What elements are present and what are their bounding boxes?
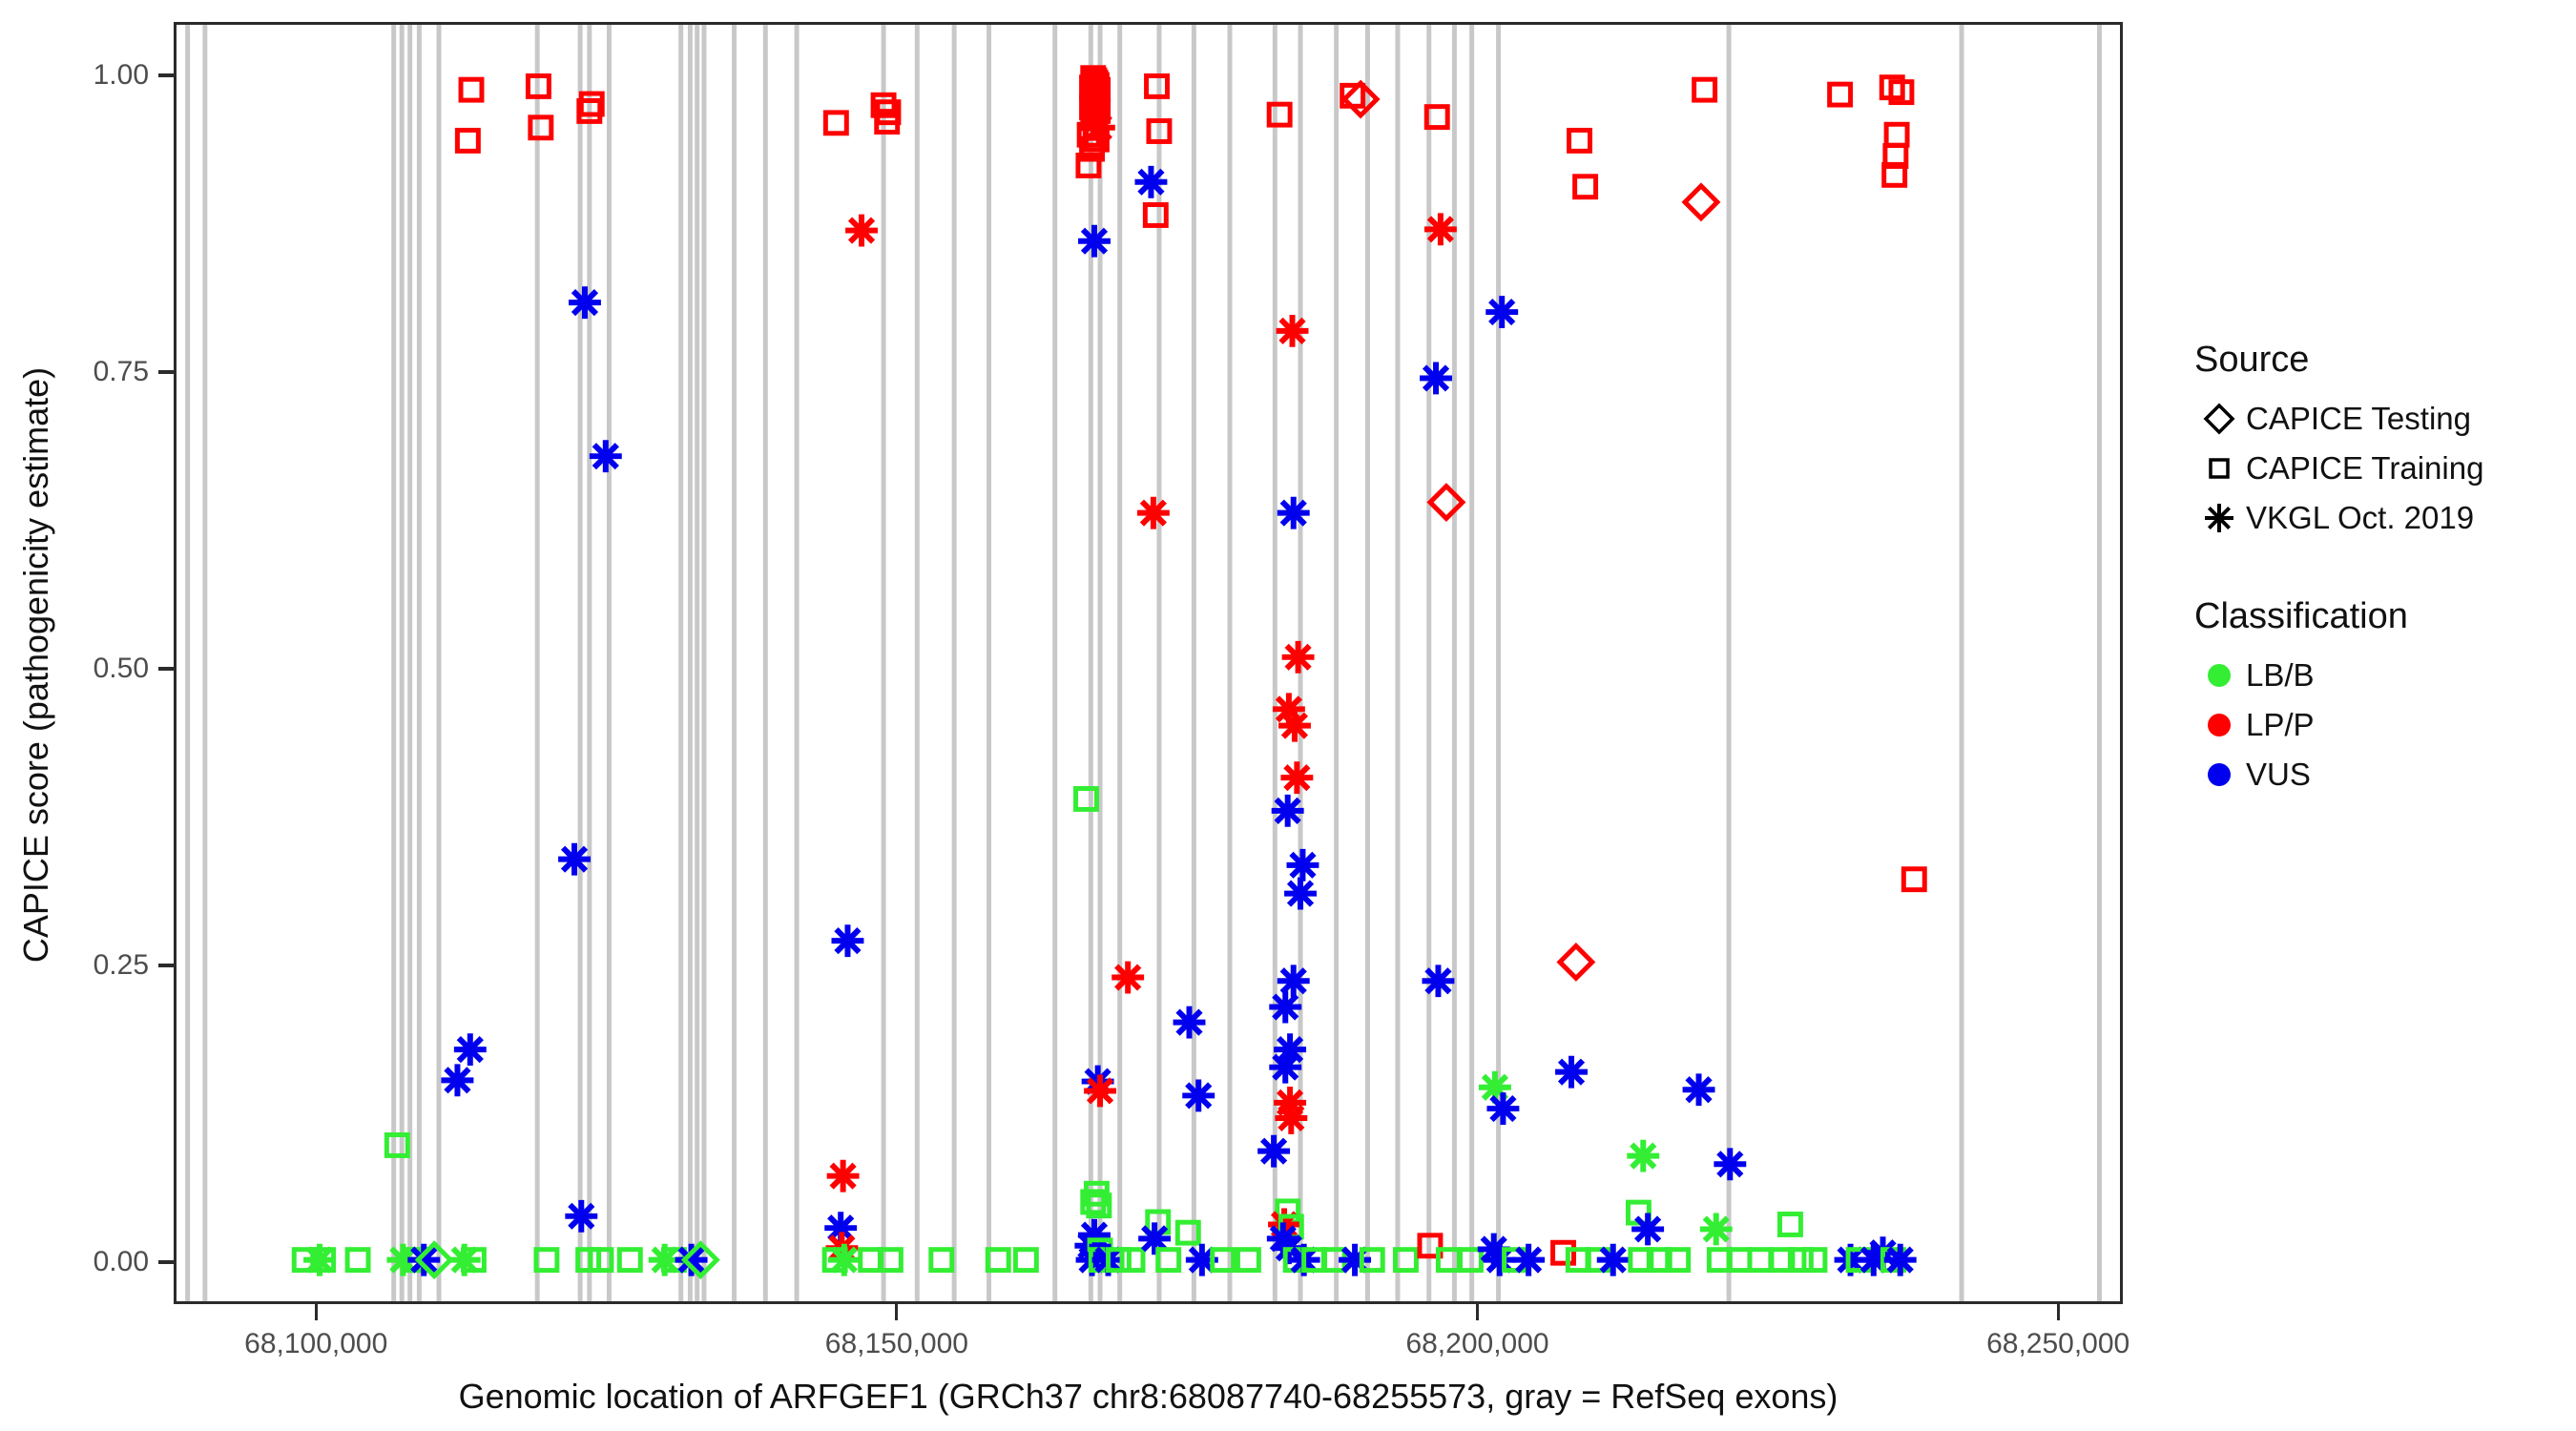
data-point xyxy=(1486,1092,1519,1125)
data-point xyxy=(1700,1213,1733,1246)
data-point xyxy=(1396,1250,1417,1271)
data-point xyxy=(1269,1051,1301,1084)
data-point xyxy=(1569,130,1590,151)
data-point xyxy=(1174,1006,1206,1039)
data-point xyxy=(832,924,864,957)
data-point xyxy=(827,1160,860,1192)
data-point xyxy=(461,79,482,100)
data-point xyxy=(1560,946,1592,979)
legend-group-classification: ClassificationLB/BLP/PVUS xyxy=(2192,596,2555,799)
data-point xyxy=(558,843,591,876)
data-point xyxy=(1145,205,1166,226)
data-point xyxy=(1269,104,1290,125)
data-points-layer xyxy=(177,25,2120,1301)
data-point xyxy=(1685,186,1717,218)
circle-marker-icon xyxy=(2192,703,2246,747)
data-point xyxy=(931,1250,952,1271)
legend-item[interactable]: CAPICE Testing xyxy=(2192,394,2555,444)
x-axis-label: Genomic location of ARFGEF1 (GRCh37 chr8… xyxy=(174,1377,2123,1417)
data-point xyxy=(1278,710,1311,742)
data-point xyxy=(1278,964,1310,997)
x-axis-tick-mark xyxy=(315,1304,318,1320)
data-point xyxy=(825,113,846,134)
data-point xyxy=(845,215,878,247)
legend-item[interactable]: VUS xyxy=(2192,750,2555,799)
data-point xyxy=(1426,107,1447,128)
data-point xyxy=(1512,1244,1545,1276)
data-point xyxy=(1282,641,1315,674)
data-point xyxy=(987,1250,1008,1271)
data-point xyxy=(457,130,478,151)
data-point xyxy=(441,1064,473,1096)
legend-item[interactable]: LP/P xyxy=(2192,700,2555,750)
data-point xyxy=(1886,124,1907,145)
data-point xyxy=(1884,1244,1917,1276)
x-axis-tick-label: 68,250,000 xyxy=(1986,1328,2129,1360)
data-point xyxy=(407,1244,440,1276)
x-axis-tick-label: 68,150,000 xyxy=(825,1328,968,1360)
data-point xyxy=(1423,964,1455,997)
legend: SourceCAPICE TestingCAPICE TrainingVKGL … xyxy=(2192,340,2555,853)
data-point xyxy=(1084,1075,1116,1108)
x-axis-tick-mark xyxy=(2057,1304,2060,1320)
data-point xyxy=(536,1250,557,1271)
data-point xyxy=(1158,1250,1179,1271)
y-axis-tick-label: 0.75 xyxy=(93,356,149,388)
legend-item-label: VUS xyxy=(2246,757,2311,793)
data-point xyxy=(1694,79,1715,100)
legend-group-source: SourceCAPICE TestingCAPICE TrainingVKGL … xyxy=(2192,340,2555,543)
data-point xyxy=(1830,84,1851,105)
data-point xyxy=(565,1200,597,1233)
data-point xyxy=(1430,487,1463,519)
data-point xyxy=(1683,1073,1715,1106)
plot-panel xyxy=(174,22,2123,1304)
data-point xyxy=(1485,296,1518,328)
data-point xyxy=(1278,497,1310,529)
legend-title-source: Source xyxy=(2194,340,2555,381)
data-point xyxy=(347,1250,368,1271)
y-axis-tick-label: 0.50 xyxy=(93,653,149,685)
data-point xyxy=(1460,1250,1481,1271)
data-point xyxy=(1135,166,1168,198)
data-point xyxy=(590,440,622,472)
data-point xyxy=(1779,1214,1800,1235)
legend-item-label: CAPICE Training xyxy=(2246,450,2483,487)
data-point xyxy=(1631,1213,1664,1246)
data-point xyxy=(1287,849,1319,881)
x-axis-tick-label: 68,100,000 xyxy=(244,1328,387,1360)
data-point xyxy=(1111,962,1144,994)
legend-item[interactable]: CAPICE Training xyxy=(2192,444,2555,493)
legend-item-label: CAPICE Testing xyxy=(2246,401,2471,437)
data-point xyxy=(1015,1250,1036,1271)
data-point xyxy=(1076,789,1097,810)
data-point xyxy=(1627,1140,1659,1172)
data-point xyxy=(619,1250,640,1271)
data-point xyxy=(1149,121,1170,142)
data-point xyxy=(1182,1080,1215,1112)
data-point xyxy=(1237,1250,1258,1271)
data-point xyxy=(1257,1135,1290,1168)
data-point xyxy=(1903,869,1924,890)
legend-item-label: LP/P xyxy=(2246,707,2315,743)
y-axis-tick-label: 0.25 xyxy=(93,949,149,982)
y-axis-tick-mark xyxy=(158,370,174,374)
y-axis-label: CAPICE score (pathogenicity estimate) xyxy=(16,45,56,1285)
chart-figure: CAPICE score (pathogenicity estimate) 0.… xyxy=(0,0,2576,1431)
legend-item-label: VKGL Oct. 2019 xyxy=(2246,500,2474,536)
diamond-marker-icon xyxy=(2192,397,2246,441)
y-axis-tick-label: 0.00 xyxy=(93,1246,149,1278)
y-axis: CAPICE score (pathogenicity estimate) 0.… xyxy=(0,0,174,1326)
data-point xyxy=(1420,363,1452,395)
y-axis-tick-mark xyxy=(158,964,174,967)
square-marker-icon xyxy=(2192,446,2246,490)
data-point xyxy=(1122,1250,1143,1271)
y-axis-tick-mark xyxy=(158,1260,174,1264)
data-point xyxy=(1280,761,1313,794)
circle-marker-icon xyxy=(2192,753,2246,797)
legend-title-classification: Classification xyxy=(2194,596,2555,637)
y-axis-tick-mark xyxy=(158,667,174,671)
data-point xyxy=(1555,1056,1588,1089)
data-point xyxy=(1147,75,1168,96)
circle-marker-icon xyxy=(2192,653,2246,697)
legend-item[interactable]: LB/B xyxy=(2192,651,2555,700)
data-point xyxy=(1177,1222,1198,1243)
data-point xyxy=(1083,112,1115,144)
data-point xyxy=(1804,1250,1825,1271)
data-point xyxy=(1275,1102,1307,1134)
data-point xyxy=(1078,225,1111,258)
data-point xyxy=(1284,878,1317,910)
y-axis-tick-mark xyxy=(158,73,174,77)
data-point xyxy=(1272,795,1304,827)
y-axis-tick-label: 1.00 xyxy=(93,59,149,92)
plot-area xyxy=(177,25,2120,1301)
data-point xyxy=(828,1244,861,1276)
data-point xyxy=(530,117,551,138)
data-point xyxy=(1137,497,1170,529)
data-point xyxy=(528,75,549,96)
data-point xyxy=(1553,1242,1574,1263)
data-point xyxy=(386,1135,407,1156)
legend-item[interactable]: VKGL Oct. 2019 xyxy=(2192,493,2555,543)
asterisk-marker-icon xyxy=(2192,496,2246,540)
data-point xyxy=(1714,1148,1746,1180)
data-point xyxy=(1597,1244,1630,1276)
data-point xyxy=(1269,991,1301,1024)
legend-item-label: LB/B xyxy=(2246,657,2315,694)
x-axis-tick-mark xyxy=(1476,1304,1479,1320)
data-point xyxy=(1424,213,1457,245)
data-point xyxy=(1277,315,1309,347)
x-axis-tick-label: 68,200,000 xyxy=(1405,1328,1548,1360)
data-point xyxy=(1575,176,1596,197)
data-point xyxy=(569,286,601,319)
x-axis-tick-mark xyxy=(895,1304,898,1320)
data-point xyxy=(454,1033,487,1066)
data-point xyxy=(1750,1250,1771,1271)
